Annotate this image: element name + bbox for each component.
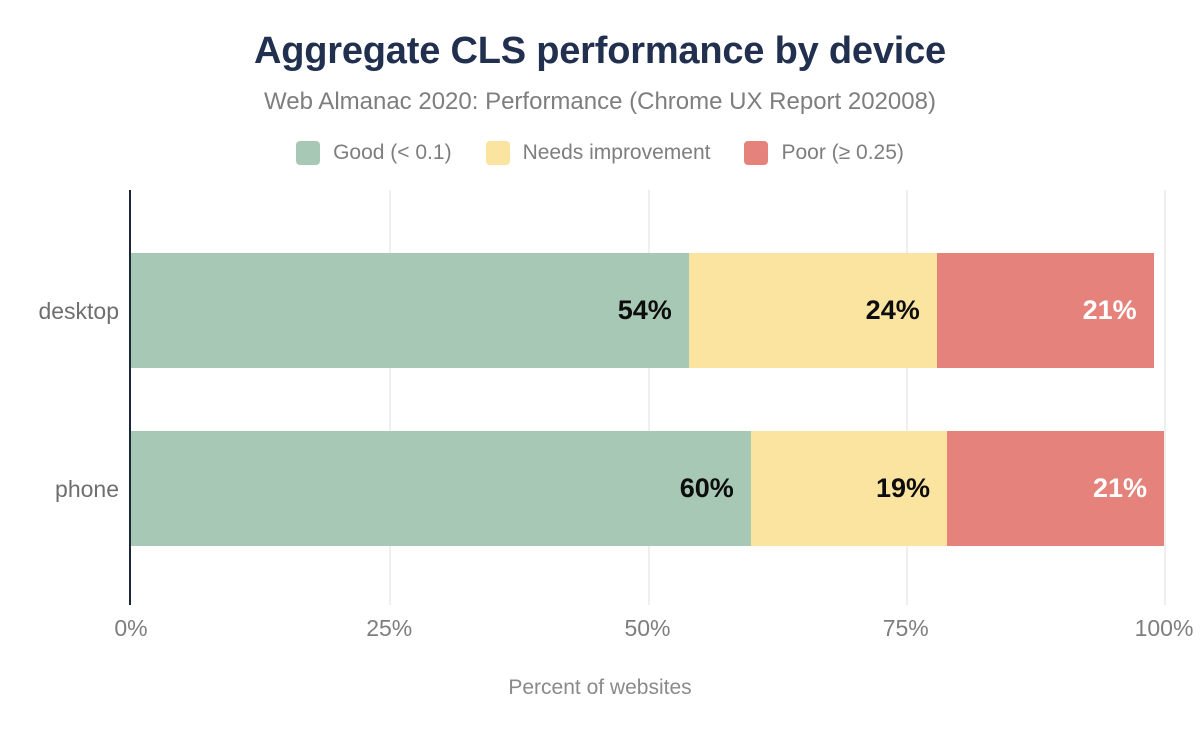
x-axis-tick-label: 75% bbox=[883, 615, 929, 642]
chart-title: Aggregate CLS performance by device bbox=[0, 30, 1200, 73]
bar-segment-value-label: 21% bbox=[1083, 297, 1137, 324]
x-axis-tick-label: 25% bbox=[366, 615, 412, 642]
chart-subtitle: Web Almanac 2020: Performance (Chrome UX… bbox=[0, 88, 1200, 116]
bar-segment-value-label: 24% bbox=[866, 297, 920, 324]
bar-segment[interactable]: 21% bbox=[937, 253, 1154, 368]
bar-segment-value-label: 19% bbox=[876, 475, 930, 502]
bar-segment[interactable]: 54% bbox=[131, 253, 689, 368]
x-axis-tick-label: 50% bbox=[624, 615, 670, 642]
legend-swatch-icon bbox=[296, 141, 320, 165]
legend-item-label: Needs improvement bbox=[523, 141, 711, 165]
bar-row: 54%24%21% bbox=[131, 253, 1164, 368]
y-axis-category-label: desktop bbox=[0, 298, 119, 325]
chart-container: Aggregate CLS performance by device Web … bbox=[0, 0, 1200, 742]
legend-swatch-icon bbox=[744, 141, 768, 165]
x-axis-tick-label: 0% bbox=[114, 615, 147, 642]
bar-segment[interactable]: 24% bbox=[689, 253, 937, 368]
bar-segment[interactable]: 21% bbox=[947, 431, 1164, 546]
bar-row: 60%19%21% bbox=[131, 431, 1164, 546]
legend-item[interactable]: Good (< 0.1) bbox=[296, 141, 451, 165]
bar-segment-value-label: 21% bbox=[1093, 475, 1147, 502]
legend-item[interactable]: Needs improvement bbox=[486, 141, 711, 165]
legend-swatch-icon bbox=[486, 141, 510, 165]
legend-item-label: Good (< 0.1) bbox=[333, 141, 451, 165]
x-axis-title: Percent of websites bbox=[0, 676, 1200, 700]
bar-segment[interactable]: 60% bbox=[131, 431, 751, 546]
bar-segment-value-label: 54% bbox=[618, 297, 672, 324]
bar-segment[interactable]: 19% bbox=[751, 431, 947, 546]
y-axis-category-label: phone bbox=[0, 476, 119, 503]
legend-item[interactable]: Poor (≥ 0.25) bbox=[744, 141, 903, 165]
legend-item-label: Poor (≥ 0.25) bbox=[781, 141, 903, 165]
plot-area: 54%24%21%60%19%21% bbox=[131, 190, 1164, 605]
x-gridline bbox=[1164, 190, 1166, 605]
bar-segment-value-label: 60% bbox=[680, 475, 734, 502]
chart-legend: Good (< 0.1)Needs improvementPoor (≥ 0.2… bbox=[0, 141, 1200, 165]
x-axis-tick-label: 100% bbox=[1135, 615, 1194, 642]
